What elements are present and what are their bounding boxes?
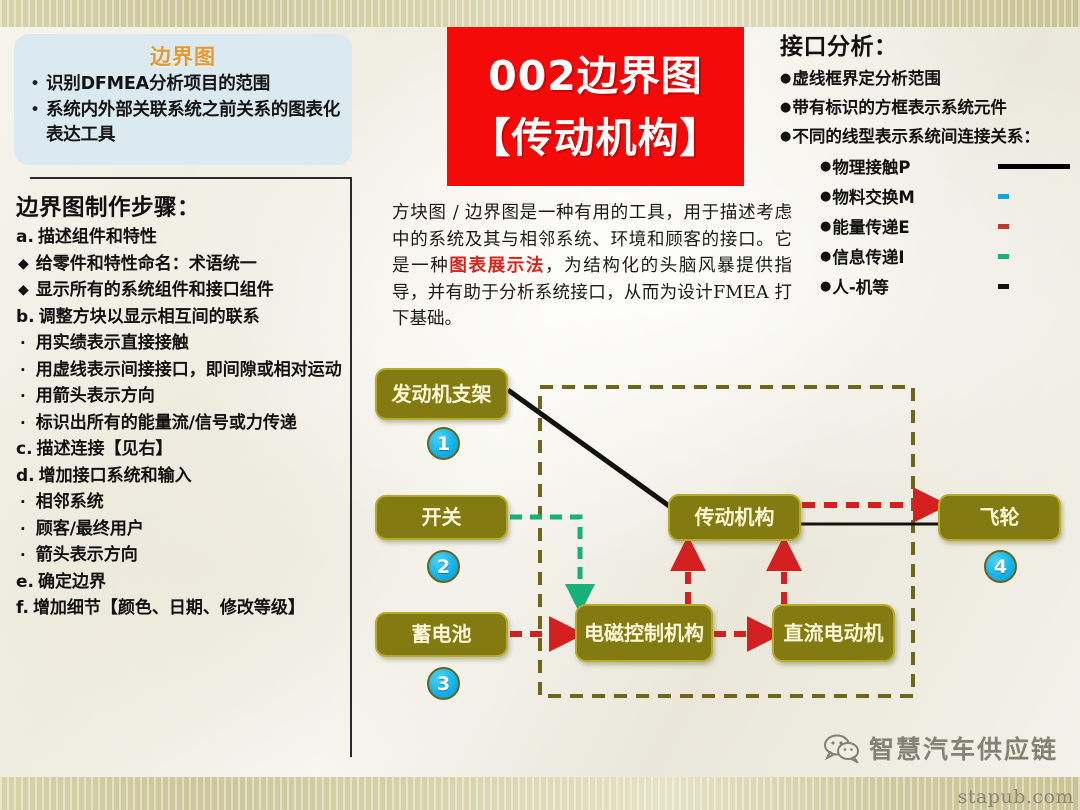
node-label: 直流电动机: [784, 621, 884, 646]
step-item: ·标识出所有的能量流/信号或力传递: [16, 413, 348, 435]
badge-2: 2: [427, 550, 460, 583]
legend-row: ●人-机等: [820, 274, 1076, 298]
step-text: 相邻系统: [36, 492, 348, 514]
step-item: e.确定边界: [16, 572, 348, 594]
step-item: ·顾客/最终用户: [16, 519, 348, 541]
bullet-icon: ●: [780, 67, 791, 90]
step-item: ·箭头表示方向: [16, 545, 348, 567]
node-flywheel[interactable]: 飞轮: [938, 494, 1061, 541]
badge-label: 1: [437, 433, 450, 455]
dot-bullet-icon: ·: [20, 519, 26, 541]
step-marker: c.: [16, 439, 33, 461]
step-marker: a.: [16, 227, 34, 249]
node-engine-mount[interactable]: 发动机支架: [375, 368, 508, 420]
node-label: 飞轮: [980, 505, 1020, 530]
legend-row: ●信息传递I: [820, 244, 1076, 268]
step-text: 描述组件和特性: [38, 227, 348, 249]
step-text: 顾客/最终用户: [36, 519, 348, 541]
step-marker: f.: [16, 598, 29, 620]
bullet-icon: •: [24, 72, 46, 97]
step-item: b.调整方块以显示相互间的联系: [16, 307, 348, 329]
node-label: 发动机支架: [392, 382, 492, 407]
slide-title-banner: 002边界图 【传动机构】: [447, 27, 744, 186]
legend-label: 能量传递E: [832, 214, 909, 238]
step-text: 增加接口系统和输入: [39, 466, 348, 488]
brand-watermark: 智慧汽车供应链: [823, 730, 1058, 766]
link-engine-mount-to-transmission: [508, 390, 672, 508]
legend-line-dashed: [998, 254, 1070, 259]
intro-item-text: 识别DFMEA分析项目的范围: [46, 72, 270, 97]
legend-row: ●物理接触P: [820, 154, 1076, 178]
wechat-icon: [823, 733, 861, 763]
bullet-icon: ●: [820, 159, 831, 174]
step-item: c.描述连接【见右】: [16, 439, 348, 461]
bullet-icon: ●: [820, 219, 831, 234]
badge-label: 4: [994, 556, 1007, 578]
step-text: 给零件和特性命名：术语统一: [36, 254, 348, 276]
step-item: ◆给零件和特性命名：术语统一: [16, 254, 348, 276]
interface-point-text: 带有标识的方框表示系统元件: [792, 96, 1007, 119]
node-label: 蓄电池: [412, 622, 472, 647]
node-transmission[interactable]: 传动机构: [668, 494, 801, 541]
node-label: 传动机构: [695, 505, 775, 530]
steps-title: 边界图制作步骤：: [16, 190, 348, 222]
step-item: a.描述组件和特性: [16, 227, 348, 249]
node-switch[interactable]: 开关: [375, 495, 508, 540]
horizontal-divider: [30, 177, 352, 179]
step-text: 确定边界: [38, 572, 348, 594]
legend-label: 物料交换M: [832, 184, 914, 208]
legend-line-dashed: [998, 224, 1070, 229]
dot-bullet-icon: ·: [20, 386, 26, 408]
step-item: d.增加接口系统和输入: [16, 466, 348, 488]
dot-bullet-icon: ·: [20, 492, 26, 514]
legend-line-dashed: [998, 284, 1070, 289]
slide-root: 边界图 • 识别DFMEA分析项目的范围 • 系统内外部关联系统之前关系的图表化…: [0, 0, 1080, 810]
bullet-icon: ●: [820, 249, 831, 264]
node-dc-motor[interactable]: 直流电动机: [772, 604, 895, 662]
step-marker: d.: [16, 466, 35, 488]
title-line-1: 002边界图: [488, 45, 703, 107]
site-credit: stapub.com: [958, 786, 1074, 808]
legend-row: ●能量传递E: [820, 214, 1076, 238]
step-item: f.增加细节【颜色、日期、修改等级】: [16, 598, 348, 620]
step-item: ◆显示所有的系统组件和接口组件: [16, 280, 348, 302]
dot-bullet-icon: ·: [20, 360, 26, 382]
node-label: 电磁控制机构: [584, 621, 704, 646]
legend-list: ●物理接触P●物料交换M●能量传递E●信息传递I●人-机等: [780, 154, 1076, 298]
node-solenoid[interactable]: 电磁控制机构: [575, 604, 713, 662]
step-marker: b.: [16, 307, 35, 329]
step-item: ·用箭头表示方向: [16, 386, 348, 408]
step-item: ·用虚线表示间接接口，即间隙或相对运动: [16, 360, 348, 382]
interface-point: ● 不同的线型表示系统间连接关系：: [780, 125, 1076, 148]
legend-label: 信息传递I: [832, 244, 904, 268]
intro-card: 边界图 • 识别DFMEA分析项目的范围 • 系统内外部关联系统之前关系的图表化…: [14, 34, 352, 165]
step-text: 描述连接【见右】: [37, 439, 348, 461]
intro-item-text: 系统内外部关联系统之前关系的图表化表达工具: [46, 98, 346, 148]
interface-point: ● 带有标识的方框表示系统元件: [780, 96, 1076, 119]
badge-1: 1: [427, 427, 460, 460]
step-marker: e.: [16, 572, 34, 594]
diamond-bullet-icon: ◆: [18, 254, 29, 276]
step-text: 用实绩表示直接接触: [36, 333, 348, 355]
step-text: 箭头表示方向: [36, 545, 348, 567]
step-text: 标识出所有的能量流/信号或力传递: [36, 413, 348, 435]
badge-label: 2: [437, 556, 450, 578]
paragraph-highlight: 图表展示法: [449, 256, 545, 276]
vertical-divider: [350, 177, 352, 757]
step-text: 用虚线表示间接接口，即间隙或相对运动: [36, 360, 348, 382]
intro-card-title: 边界图: [14, 34, 352, 71]
left-column: 边界图 • 识别DFMEA分析项目的范围 • 系统内外部关联系统之前关系的图表化…: [0, 27, 366, 757]
dot-bullet-icon: ·: [20, 545, 26, 567]
link-switch-to-solenoid: [510, 517, 580, 600]
step-text: 调整方块以显示相互间的联系: [39, 307, 348, 329]
steps-section: 边界图制作步骤： a.描述组件和特性◆给零件和特性命名：术语统一◆显示所有的系统…: [16, 190, 348, 620]
bullet-icon: •: [24, 98, 46, 123]
badge-4: 4: [984, 550, 1017, 583]
diamond-bullet-icon: ◆: [18, 280, 29, 302]
bullet-icon: ●: [820, 189, 831, 204]
interface-point-text: 虚线框界定分析范围: [792, 67, 941, 90]
legend-row: ●物料交换M: [820, 184, 1076, 208]
title-line-2: 【传动机构】: [470, 107, 722, 169]
badge-label: 3: [437, 673, 450, 695]
description-paragraph: 方块图 / 边界图是一种有用的工具，用于描述考虑中的系统及其与相邻系统、环境和顾…: [392, 200, 792, 333]
legend-label: 物理接触P: [832, 154, 910, 178]
node-label: 开关: [422, 505, 462, 530]
steps-list: a.描述组件和特性◆给零件和特性命名：术语统一◆显示所有的系统组件和接口组件b.…: [16, 227, 348, 620]
step-text: 显示所有的系统组件和接口组件: [36, 280, 348, 302]
interface-analysis-section: 接口分析： ● 虚线框界定分析范围 ● 带有标识的方框表示系统元件 ● 不同的线…: [780, 27, 1076, 298]
node-battery[interactable]: 蓄电池: [375, 612, 508, 657]
dot-bullet-icon: ·: [20, 333, 26, 355]
step-text: 增加细节【颜色、日期、修改等级】: [33, 598, 348, 620]
legend-label: 人-机等: [832, 274, 888, 298]
legend-line-solid: [998, 164, 1070, 169]
dot-bullet-icon: ·: [20, 413, 26, 435]
badge-3: 3: [427, 667, 460, 700]
legend-line-dashed: [998, 194, 1070, 199]
interface-point-text: 不同的线型表示系统间连接关系：: [792, 125, 1040, 148]
step-text: 用箭头表示方向: [36, 386, 348, 408]
intro-list-item: • 识别DFMEA分析项目的范围: [14, 72, 352, 97]
step-item: ·相邻系统: [16, 492, 348, 514]
intro-list-item: • 系统内外部关联系统之前关系的图表化表达工具: [14, 98, 352, 148]
bullet-icon: ●: [780, 96, 791, 119]
interface-point: ● 虚线框界定分析范围: [780, 67, 1076, 90]
bullet-icon: ●: [780, 125, 791, 148]
step-item: ·用实绩表示直接接触: [16, 333, 348, 355]
brand-name: 智慧汽车供应链: [869, 730, 1058, 766]
interface-analysis-title: 接口分析：: [780, 27, 1076, 61]
bullet-icon: ●: [820, 279, 831, 294]
